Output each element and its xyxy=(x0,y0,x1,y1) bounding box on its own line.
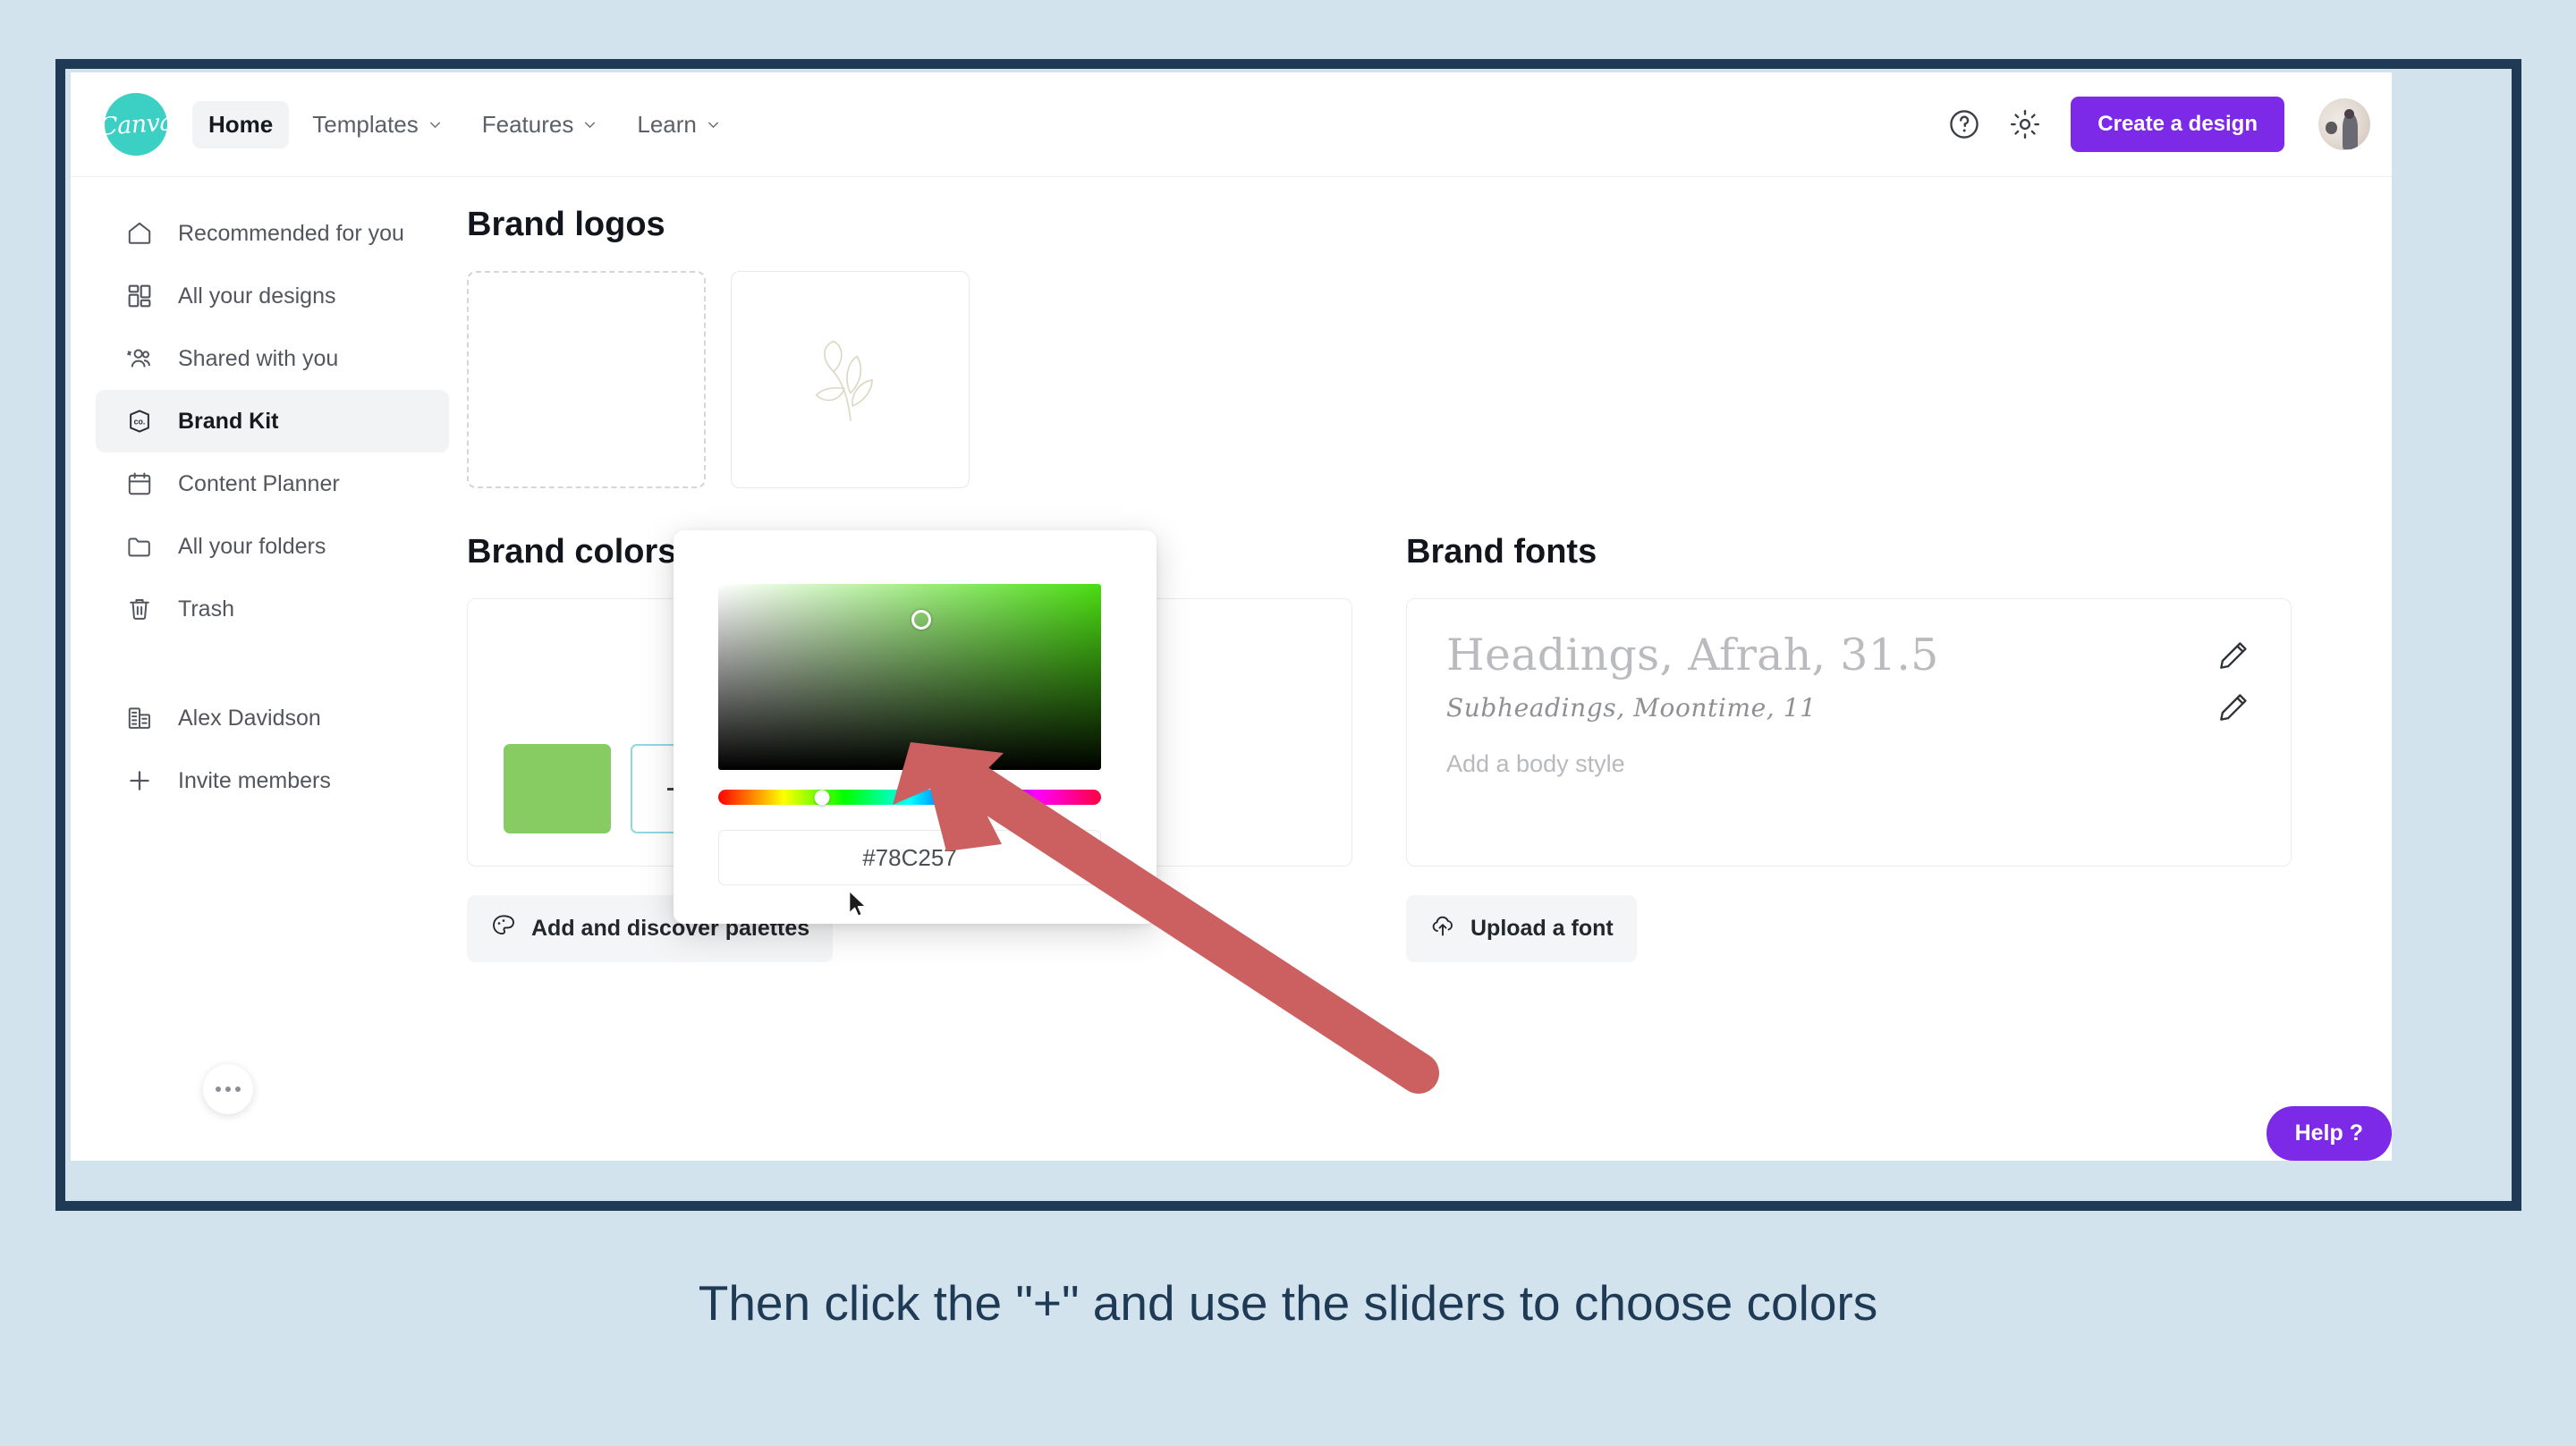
add-body-style-placeholder[interactable]: Add a body style xyxy=(1446,750,2251,778)
font-row-heading: Headings, Afrah, 31.5 xyxy=(1446,630,2251,681)
trash-icon xyxy=(124,594,155,624)
help-button[interactable]: Help ? xyxy=(2267,1106,2392,1161)
sidebar-item-label: Recommended for you xyxy=(178,221,404,247)
more-dots-button[interactable] xyxy=(203,1064,253,1114)
dot xyxy=(225,1087,231,1092)
color-swatch[interactable] xyxy=(504,744,611,833)
dot xyxy=(235,1087,241,1092)
sidebar-item-invite-members[interactable]: Invite members xyxy=(96,749,449,812)
sidebar-item-all-your-folders[interactable]: All your folders xyxy=(96,515,449,578)
nav-item-learn[interactable]: Learn xyxy=(621,101,737,148)
brand-fonts-section: Brand fonts Headings, Afrah, 31.5 xyxy=(1406,533,2292,962)
pencil-icon[interactable] xyxy=(2216,689,2251,725)
folder-icon xyxy=(124,531,155,562)
sidebar: Recommended for you All your designs xyxy=(71,177,467,1161)
sidebar-item-all-your-designs[interactable]: All your designs xyxy=(96,265,449,327)
sidebar-item-brand-kit[interactable]: co. Brand Kit xyxy=(96,390,449,452)
hue-slider-handle[interactable] xyxy=(814,790,829,805)
color-picker-popup: #78C257 xyxy=(674,530,1157,924)
pencil-icon[interactable] xyxy=(2216,638,2251,673)
sidebar-item-shared-with-you[interactable]: Shared with you xyxy=(96,327,449,390)
home-icon xyxy=(124,218,155,249)
brand-fonts-panel: Headings, Afrah, 31.5 Subheadings, Moont… xyxy=(1406,598,2292,867)
botanical-logo-icon xyxy=(797,326,904,434)
sidebar-item-label: All your folders xyxy=(178,534,326,560)
upload-a-font-button[interactable]: Upload a font xyxy=(1406,895,1637,962)
nav-item-features[interactable]: Features xyxy=(466,101,614,148)
plus-icon xyxy=(124,765,155,796)
caption-text: Then click the "+" and use the sliders t… xyxy=(0,1274,2576,1332)
brand-logo-tile[interactable] xyxy=(731,271,970,488)
chevron-down-icon xyxy=(582,117,597,132)
upload-font-label: Upload a font xyxy=(1470,916,1614,942)
sidebar-divider-space xyxy=(71,640,467,687)
heading-font-label: Headings, Afrah, 31.5 xyxy=(1446,630,1939,681)
sidebar-item-content-planner[interactable]: Content Planner xyxy=(96,452,449,515)
sidebar-item-label: Trash xyxy=(178,596,234,622)
calendar-icon xyxy=(124,469,155,499)
sidebar-item-label: Shared with you xyxy=(178,346,338,372)
avatar-head xyxy=(2344,109,2354,119)
sidebar-item-alex-davidson[interactable]: Alex Davidson xyxy=(96,687,449,749)
sidebar-item-recommended-for-you[interactable]: Recommended for you xyxy=(96,202,449,265)
palette-icon xyxy=(490,912,517,945)
people-add-icon xyxy=(124,343,155,374)
brand-hexagon-icon: co. xyxy=(124,406,155,436)
question-circle-icon[interactable] xyxy=(1945,106,1983,143)
chevron-down-icon xyxy=(706,117,721,132)
brand-logos-tiles xyxy=(467,271,2329,488)
sidebar-item-label: Alex Davidson xyxy=(178,706,321,731)
nav-item-learn-label: Learn xyxy=(637,111,697,139)
building-icon xyxy=(124,703,155,733)
subheading-font-label: Subheadings, Moontime, 11 xyxy=(1446,693,1817,723)
avatar-figure xyxy=(2343,114,2358,148)
hue-slider[interactable] xyxy=(718,790,1101,805)
nav-item-templates-label: Templates xyxy=(312,111,419,139)
saturation-value-area[interactable] xyxy=(718,584,1101,770)
sidebar-item-label: Brand Kit xyxy=(178,409,279,435)
sidebar-item-trash[interactable]: Trash xyxy=(96,578,449,640)
logo-upload-placeholder[interactable] xyxy=(467,271,706,488)
cloud-upload-icon xyxy=(1429,912,1456,945)
nav-item-home[interactable]: Home xyxy=(192,101,289,148)
brand-fonts-title: Brand fonts xyxy=(1406,533,2292,571)
saturation-cursor-handle[interactable] xyxy=(911,610,931,630)
topbar-actions: Create a design xyxy=(1945,97,2370,152)
primary-nav: Home Templates Features Learn xyxy=(192,101,737,148)
gear-icon[interactable] xyxy=(2006,106,2044,143)
nav-item-templates[interactable]: Templates xyxy=(296,101,459,148)
canva-app-window: Canva Home Templates Features Learn xyxy=(71,72,2392,1161)
sidebar-item-label: Content Planner xyxy=(178,471,340,497)
nav-item-features-label: Features xyxy=(482,111,574,139)
grid-icon xyxy=(124,281,155,311)
canva-logo[interactable]: Canva xyxy=(105,93,167,156)
hex-color-input[interactable]: #78C257 xyxy=(718,830,1101,885)
svg-text:co.: co. xyxy=(134,417,146,426)
top-navigation-bar: Canva Home Templates Features Learn xyxy=(71,72,2392,177)
sidebar-item-label: Invite members xyxy=(178,768,331,794)
font-row-subheading: Subheadings, Moontime, 11 xyxy=(1446,689,2251,725)
create-a-design-button[interactable]: Create a design xyxy=(2071,97,2284,152)
chevron-down-icon xyxy=(428,117,443,132)
brand-logos-title: Brand logos xyxy=(467,206,2329,244)
avatar[interactable] xyxy=(2318,98,2370,150)
mouse-pointer xyxy=(847,890,870,925)
canva-logo-text: Canva xyxy=(98,108,174,141)
sidebar-item-label: All your designs xyxy=(178,283,335,309)
dot xyxy=(216,1087,221,1092)
app-body: Recommended for you All your designs xyxy=(71,177,2392,1161)
avatar-detail xyxy=(2326,122,2337,135)
nav-item-home-label: Home xyxy=(208,111,273,139)
